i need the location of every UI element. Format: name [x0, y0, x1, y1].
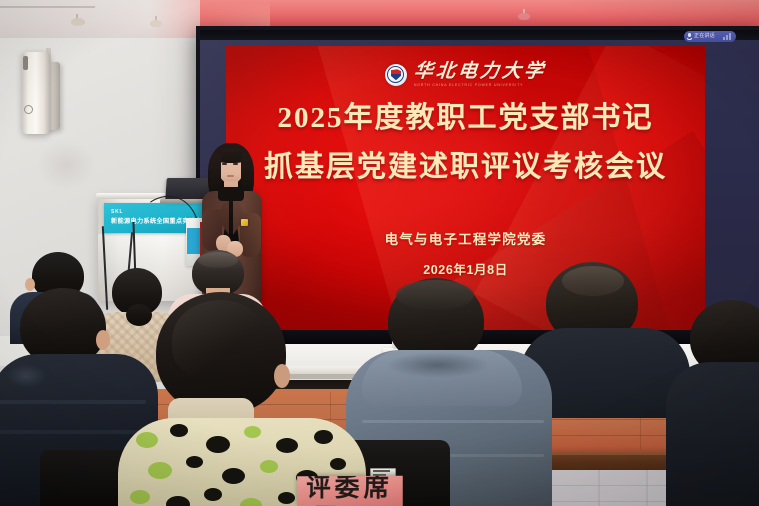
presenter-eye — [222, 163, 227, 165]
leopard-spot — [130, 490, 150, 504]
hair-highlight — [172, 300, 268, 380]
leopard-spot — [206, 436, 230, 453]
hair — [562, 266, 624, 296]
ac-vent — [23, 56, 28, 70]
status-badge-label: 正在讲话 — [694, 34, 715, 39]
leopard-spot — [330, 458, 346, 470]
university-emblem-icon — [385, 64, 407, 86]
ceiling-seam — [0, 6, 95, 8]
leopard-spot — [170, 424, 188, 437]
wall-smudge — [36, 140, 96, 190]
ceiling-sprinkler-icon — [71, 14, 83, 25]
jacket-seam — [0, 430, 146, 434]
jacket-seam — [362, 420, 544, 423]
tent-card-foreground-label: 评委席 — [306, 476, 393, 503]
hood-shadow — [386, 352, 490, 378]
name-tag-line — [373, 470, 390, 472]
leopard-spot — [260, 460, 278, 473]
jacket-seam — [0, 400, 146, 404]
presenter-eye — [233, 163, 238, 165]
meeting-room-photo: 正在讲话 华北电力大学 NORTH CHINA ELECTRIC POWER U… — [0, 0, 759, 506]
leopard-spot — [136, 432, 158, 448]
ear — [274, 364, 290, 388]
leopard-spot — [244, 426, 261, 438]
university-wordmark: 华北电力大学 NORTH CHINA ELECTRIC POWER UNIVER… — [414, 62, 546, 87]
leopard-spot — [278, 492, 295, 504]
audience-member — [536, 262, 656, 402]
leopard-spot — [276, 438, 298, 453]
leopard-spot — [222, 468, 245, 484]
ac-logo — [24, 105, 33, 114]
leopard-spot — [148, 462, 172, 479]
signal-bars-icon — [723, 33, 733, 40]
leopard-spot — [166, 496, 190, 506]
hair — [198, 252, 238, 268]
leopard-spot — [204, 488, 222, 501]
torso — [666, 362, 759, 506]
slide-title-line-1: 2025年度教职工党支部书记 — [226, 104, 705, 133]
party-emblem-pin-icon — [241, 219, 248, 226]
university-name-en: NORTH CHINA ELECTRIC POWER UNIVERSITY — [414, 84, 523, 87]
leopard-spot — [240, 498, 262, 506]
ceiling-sprinkler-icon — [150, 16, 162, 27]
university-logo: 华北电力大学 NORTH CHINA ELECTRIC POWER UNIVER… — [226, 62, 705, 87]
tent-card-foreground: 评委席 — [297, 476, 403, 506]
audience-member — [128, 292, 358, 506]
leopard-spot — [314, 430, 333, 444]
status-badge[interactable]: 正在讲话 — [684, 31, 736, 42]
slide-title-line-2: 抓基层党建述职评议考核会议 — [226, 153, 705, 182]
university-name-cn: 华北电力大学 — [413, 62, 547, 81]
hair — [396, 280, 474, 310]
slide-subtitle-organization: 电气与电子工程学院党委 — [226, 228, 705, 248]
audience-member — [690, 300, 759, 506]
ear — [96, 330, 110, 350]
jacket-highlight — [6, 364, 46, 388]
presenter-collar — [218, 187, 244, 201]
microphone-icon — [687, 33, 692, 40]
presenter-mouth — [227, 175, 234, 177]
ceiling-sprinkler-icon — [518, 9, 530, 20]
leopard-spot — [186, 456, 203, 468]
